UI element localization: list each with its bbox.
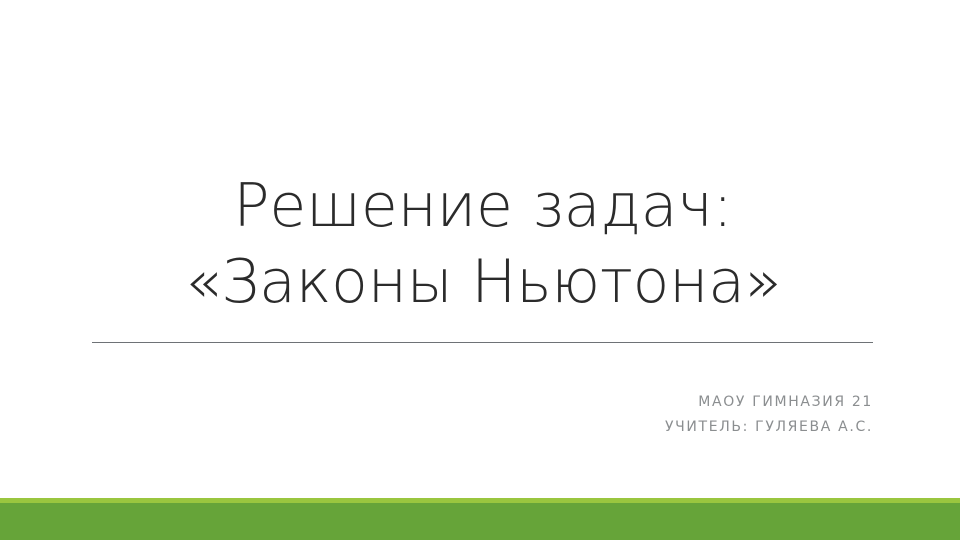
footer-band-dark [0, 503, 960, 540]
slide-subtitle: МАОУ ГИМНАЗИЯ 21 УЧИТЕЛЬ: ГУЛЯЕВА А.С. [92, 390, 873, 440]
slide-title-line-2: «Законы Ньютона» [92, 244, 874, 320]
slide-title-line-1: Решение задач: [92, 168, 874, 244]
slide-title: Решение задач: «Законы Ньютона» [92, 168, 874, 320]
title-divider-rule [92, 342, 873, 343]
slide-subtitle-line-1: МАОУ ГИМНАЗИЯ 21 [92, 390, 873, 415]
presentation-slide: Решение задач: «Законы Ньютона» МАОУ ГИМ… [0, 0, 960, 540]
slide-subtitle-line-2: УЧИТЕЛЬ: ГУЛЯЕВА А.С. [92, 415, 873, 440]
